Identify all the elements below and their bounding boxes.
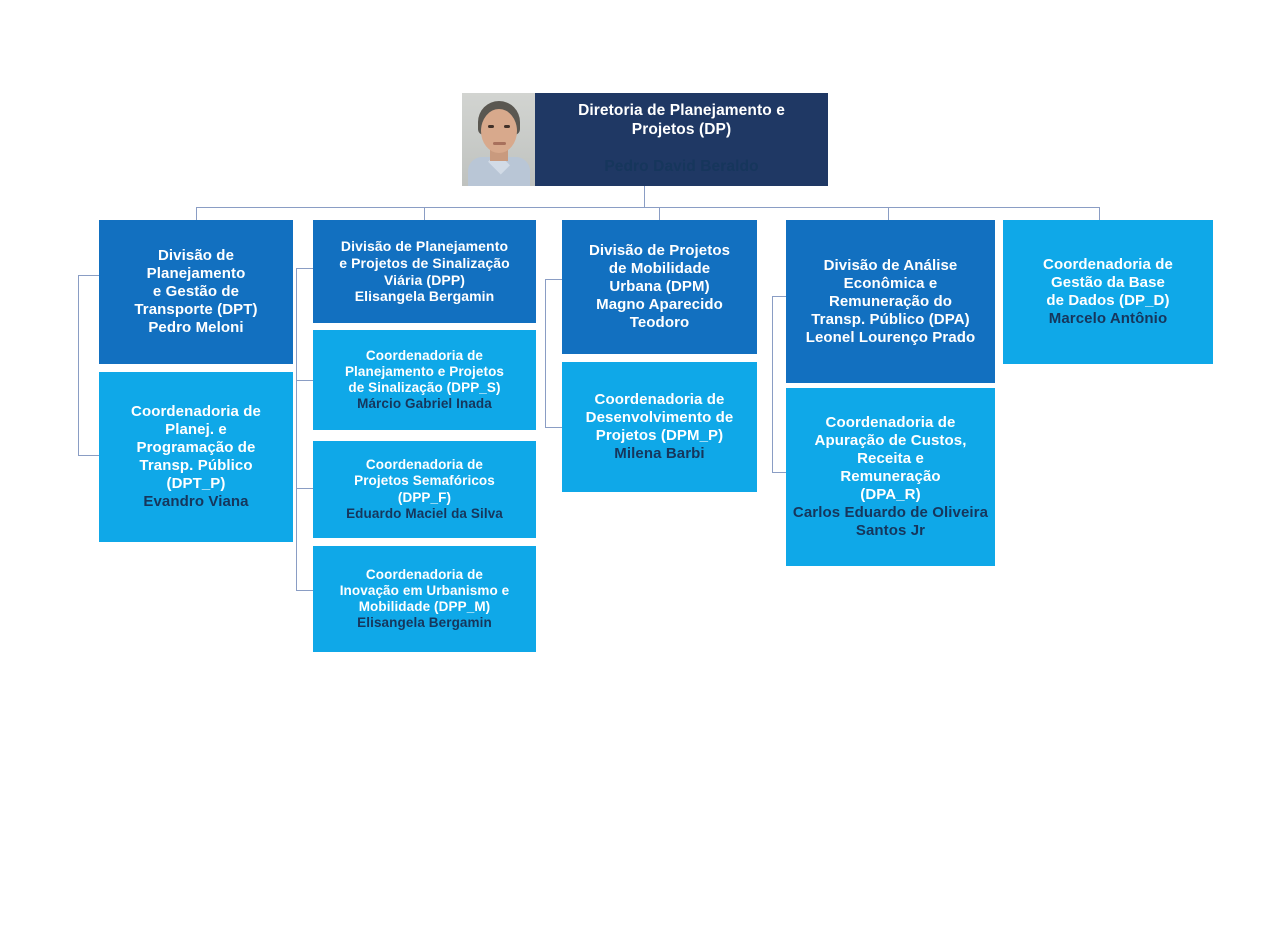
node-dpp-f[interactable]: Coordenadoria de Projetos Semafóricos (D… [313, 441, 536, 538]
connector-root-bus [196, 207, 1099, 208]
connector-bracket-dpm-stem [545, 279, 562, 280]
node-dpm-p[interactable]: Coordenadoria de Desenvolvimento de Proj… [562, 362, 757, 492]
node-dpp-m[interactable]: Coordenadoria de Inovação em Urbanismo e… [313, 546, 536, 652]
node-dpp-f-title: Coordenadoria de Projetos Semafóricos (D… [354, 457, 495, 506]
node-dpm-person: Magno Aparecido Teodoro [568, 296, 751, 332]
node-dpp-title: Divisão de Planejamento e Projetos de Si… [339, 238, 510, 288]
node-dp-d-title: Coordenadoria de Gestão da Base de Dados… [1043, 256, 1173, 310]
node-dpa-title: Divisão de Análise Econômica e Remuneraç… [811, 257, 970, 329]
connector-drop-dpp [424, 207, 425, 220]
node-dpm-title: Divisão de Projetos de Mobilidade Urbana… [589, 242, 730, 296]
node-root-title: Diretoria de Planejamento e Projetos (DP… [578, 102, 785, 139]
node-root-dp[interactable]: Diretoria de Planejamento e Projetos (DP… [462, 93, 828, 186]
connector-bracket-dpp-f [296, 488, 314, 489]
node-root-text: Diretoria de Planejamento e Projetos (DP… [535, 93, 828, 186]
node-dpt-p-person: Evandro Viana [143, 493, 248, 511]
node-dpa[interactable]: Divisão de Análise Econômica e Remuneraç… [786, 220, 995, 383]
node-dpt-p[interactable]: Coordenadoria de Planej. e Programação d… [99, 372, 293, 542]
node-dpm-p-person: Milena Barbi [614, 445, 704, 463]
node-dpm-p-title: Coordenadoria de Desenvolvimento de Proj… [586, 391, 734, 445]
connector-drop-dpd [1099, 207, 1100, 220]
node-dpa-r-title: Coordenadoria de Apuração de Custos, Rec… [815, 414, 967, 504]
node-dpp-s[interactable]: Coordenadoria de Planejamento e Projetos… [313, 330, 536, 430]
connector-bracket-dpt-p [78, 455, 100, 456]
connector-bracket-dpa-stem [772, 296, 786, 297]
node-dpt-person: Pedro Meloni [148, 319, 243, 337]
connector-bracket-dpt [78, 275, 79, 455]
connector-bracket-dpa-r [772, 472, 786, 473]
node-dpa-r[interactable]: Coordenadoria de Apuração de Custos, Rec… [786, 388, 995, 566]
connector-bracket-dpm-p [545, 427, 562, 428]
node-dpp-m-title: Coordenadoria de Inovação em Urbanismo e… [340, 567, 510, 616]
node-dp-d-person: Marcelo Antônio [1049, 310, 1167, 328]
connector-drop-dpt [196, 207, 197, 220]
node-dpt[interactable]: Divisão de Planejamento e Gestão de Tran… [99, 220, 293, 364]
node-dpp-m-person: Elisangela Bergamin [357, 615, 492, 631]
node-dpp-s-person: Márcio Gabriel Inada [357, 396, 492, 412]
connector-bracket-dpa [772, 296, 773, 472]
node-dpm[interactable]: Divisão de Projetos de Mobilidade Urbana… [562, 220, 757, 354]
avatar [462, 93, 535, 186]
node-dpa-r-person: Carlos Eduardo de Oliveira Santos Jr [792, 504, 989, 540]
connector-drop-dpm [659, 207, 660, 220]
node-dp-d[interactable]: Coordenadoria de Gestão da Base de Dados… [1003, 220, 1213, 364]
node-dpp-f-person: Eduardo Maciel da Silva [346, 506, 503, 522]
connector-bracket-dpm [545, 279, 546, 427]
node-dpa-person: Leonel Lourenço Prado [806, 329, 976, 347]
node-dpp[interactable]: Divisão de Planejamento e Projetos de Si… [313, 220, 536, 323]
connector-bracket-dpt-stem [78, 275, 100, 276]
node-dpt-title: Divisão de Planejamento e Gestão de Tran… [134, 247, 257, 319]
connector-drop-dpa [888, 207, 889, 220]
connector-bracket-dpp-m [296, 590, 314, 591]
node-root-person: Pedro David Beraldo [578, 158, 785, 177]
node-dpp-s-title: Coordenadoria de Planejamento e Projetos… [345, 348, 504, 397]
connector-bracket-dpp-s [296, 380, 314, 381]
org-chart: Diretoria de Planejamento e Projetos (DP… [0, 0, 1280, 945]
node-dpp-person: Elisangela Bergamin [355, 288, 495, 305]
connector-bracket-dpp [296, 268, 297, 590]
node-dpt-p-title: Coordenadoria de Planej. e Programação d… [131, 403, 261, 493]
connector-bracket-dpp-stem [296, 268, 314, 269]
